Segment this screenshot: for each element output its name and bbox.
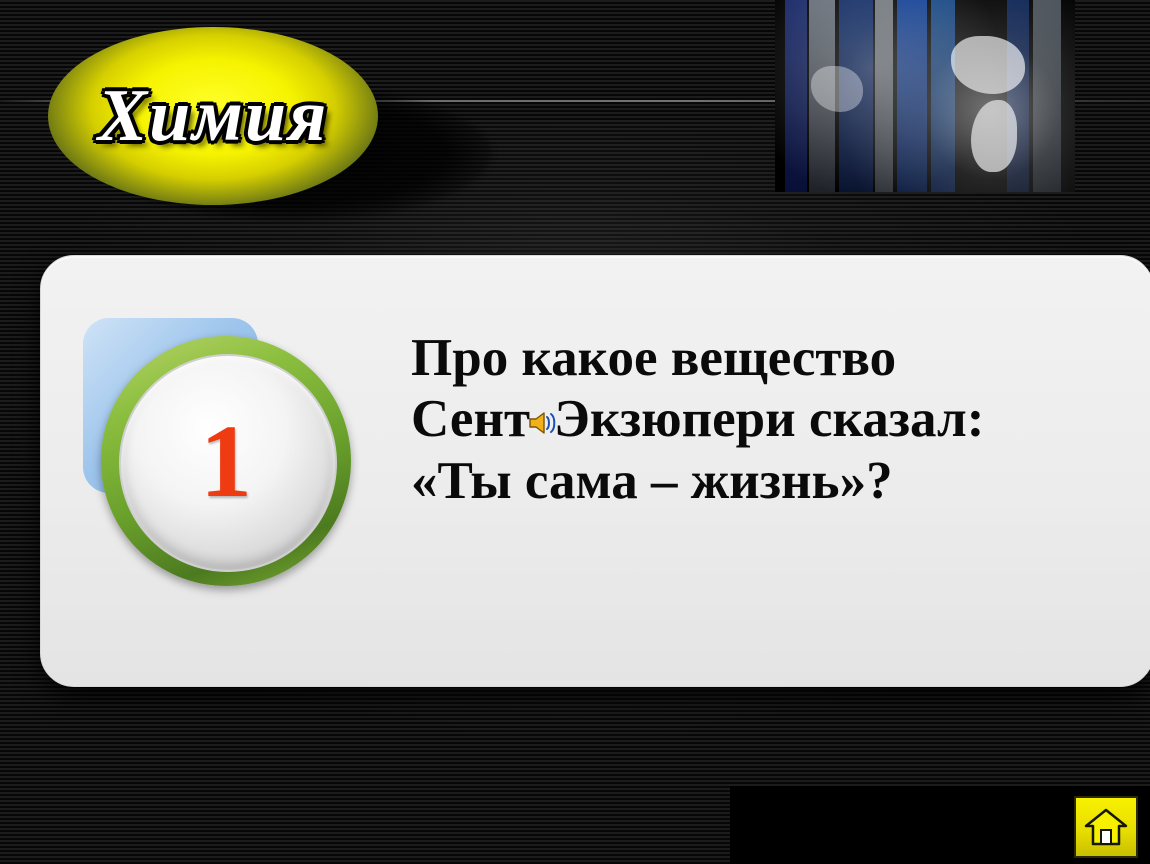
world-map-graphic xyxy=(775,0,1075,192)
home-icon xyxy=(1084,807,1128,847)
deco-bar-1 xyxy=(785,0,807,192)
slide: Химия 1 Про какое вещество СентЭкзюпери … xyxy=(0,0,1150,864)
page-title: Химия xyxy=(48,27,378,205)
deco-bar-3 xyxy=(839,0,873,192)
question-line-3: «Ты сама – жизнь»? xyxy=(411,451,1121,512)
question-card: 1 Про какое вещество СентЭкзюпери сказал… xyxy=(40,255,1150,687)
deco-bar-5 xyxy=(897,0,927,192)
deco-bar-4 xyxy=(875,0,893,192)
question-number: 1 xyxy=(119,354,333,568)
deco-bar-2 xyxy=(809,0,835,192)
speaker-icon[interactable] xyxy=(525,406,559,440)
question-line-2-prefix: Сент xyxy=(411,390,530,448)
question-line-1: Про какое вещество xyxy=(411,328,1121,389)
question-line-2-wrap: СентЭкзюпери сказал: xyxy=(411,389,1121,450)
deco-bar-7 xyxy=(1007,0,1029,192)
deco-bar-6 xyxy=(931,0,955,192)
question-line-2-suffix: Экзюпери сказал: xyxy=(554,390,984,448)
deco-bar-8 xyxy=(1033,0,1061,192)
home-button[interactable] xyxy=(1074,796,1138,858)
question-text: Про какое вещество СентЭкзюпери сказал: … xyxy=(411,328,1121,512)
question-number-badge: 1 xyxy=(83,318,353,588)
